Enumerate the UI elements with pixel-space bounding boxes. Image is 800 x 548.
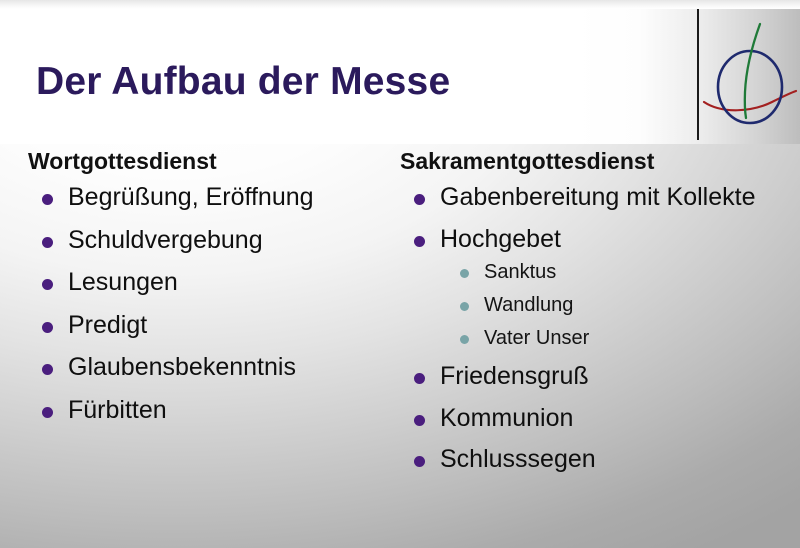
sub-list-item: Wandlung (440, 292, 780, 318)
sub-list-item-label: Vater Unser (484, 327, 589, 349)
sub-bullet-dot-icon (460, 302, 469, 311)
sub-list-item: Vater Unser (440, 325, 780, 351)
bullet-dot-icon (414, 194, 425, 205)
list-item-label: Friedensgruß (440, 360, 780, 393)
bullet-dot-icon (42, 237, 53, 248)
bullet-dot-icon (414, 456, 425, 467)
list-item-label: Fürbitten (68, 394, 400, 427)
list-item-label: Glaubensbekenntnis (68, 351, 400, 384)
bullet-dot-icon (42, 194, 53, 205)
list-item-label: Gabenbereitung mit Kollekte (440, 181, 780, 214)
sub-list-item-label: Sanktus (484, 261, 556, 283)
presentation-slide: Der Aufbau der Messe Wortgottesdienst Be… (0, 0, 800, 548)
sub-bullet-dot-icon (460, 335, 469, 344)
list-item-label: Kommunion (440, 402, 780, 435)
bullet-dot-icon (42, 279, 53, 290)
column-wortgottesdienst: Wortgottesdienst Begrüßung, Eröffnung Sc… (28, 148, 400, 436)
list-item: Friedensgruß (400, 360, 780, 393)
list-item: Schuldvergebung (28, 224, 400, 257)
logo-divider-line (697, 9, 699, 140)
sub-bullet-dot-icon (460, 269, 469, 278)
list-item: Fürbitten (28, 394, 400, 427)
column-heading-left: Wortgottesdienst (28, 148, 400, 175)
list-item: Hochgebet Sanktus Wandlung Vater Unser (400, 223, 780, 352)
sub-list-hochgebet: Sanktus Wandlung Vater Unser (440, 259, 780, 351)
bullet-dot-icon (414, 236, 425, 247)
sub-list-item-label: Wandlung (484, 294, 573, 316)
list-item-label: Hochgebet (440, 223, 780, 256)
list-item-label: Schuldvergebung (68, 224, 400, 257)
list-item: Gabenbereitung mit Kollekte (400, 181, 780, 214)
page-title: Der Aufbau der Messe (36, 60, 450, 104)
column-heading-right: Sakramentgottesdienst (400, 148, 780, 175)
bullet-dot-icon (414, 415, 425, 426)
bullet-dot-icon (42, 364, 53, 375)
parish-logo-icon (700, 14, 798, 134)
list-item: Lesungen (28, 266, 400, 299)
column-sakramentgottesdienst: Sakramentgottesdienst Gabenbereitung mit… (400, 148, 780, 485)
bullet-list-left: Begrüßung, Eröffnung Schuldvergebung Les… (28, 181, 400, 426)
list-item: Begrüßung, Eröffnung (28, 181, 400, 214)
list-item: Predigt (28, 309, 400, 342)
list-item: Kommunion (400, 402, 780, 435)
title-band-top-edge (0, 0, 800, 9)
list-item-label: Lesungen (68, 266, 400, 299)
logo-vertical-stroke (745, 24, 760, 118)
list-item-label: Predigt (68, 309, 400, 342)
list-item-label: Schlusssegen (440, 443, 780, 476)
list-item-label: Begrüßung, Eröffnung (68, 181, 400, 214)
list-item: Glaubensbekenntnis (28, 351, 400, 384)
bullet-dot-icon (42, 322, 53, 333)
bullet-dot-icon (414, 373, 425, 384)
sub-list-item: Sanktus (440, 259, 780, 285)
bullet-dot-icon (42, 407, 53, 418)
bullet-list-right: Gabenbereitung mit Kollekte Hochgebet Sa… (400, 181, 780, 476)
list-item: Schlusssegen (400, 443, 780, 476)
